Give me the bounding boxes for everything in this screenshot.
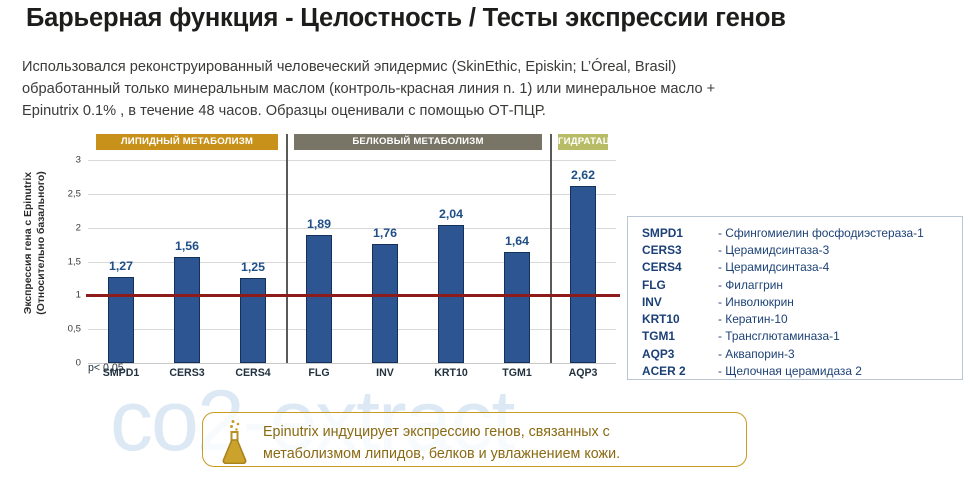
bar-flg [306, 235, 332, 363]
banner-text: Epinutrix индуцирует экспрессию генов, с… [263, 421, 733, 465]
legend-gene-code: ACER 2 [642, 364, 718, 378]
legend-gene-code: CERS3 [642, 243, 718, 257]
gridline [88, 329, 616, 330]
x-axis-label-flg: FLG [283, 367, 355, 379]
bar-value-label: 1,56 [157, 239, 217, 253]
intro-line-1: Использовался реконструированный человеч… [22, 56, 952, 78]
bar-cers4 [240, 278, 266, 363]
x-axis-label-cers3: CERS3 [151, 367, 223, 379]
legend-gene-code: INV [642, 295, 718, 309]
bar-inv [372, 244, 398, 363]
group-divider [550, 134, 552, 363]
intro-paragraph: Использовался реконструированный человеч… [22, 56, 952, 122]
group-header-lipid: ЛИПИДНЫЙ МЕТАБОЛИЗМ [96, 134, 278, 150]
legend-gene-description: - Трансглютаминаза-1 [718, 329, 840, 343]
legend-gene-description: - Сфингомиелин фосфодиэстераза-1 [718, 226, 924, 240]
legend-gene-description: - Кератин-10 [718, 312, 788, 326]
gridline [88, 194, 616, 195]
bar-value-label: 1,64 [487, 234, 547, 248]
x-axis-label-aqp3: AQP3 [547, 367, 619, 379]
legend-row: TGM1- Трансглютаминаза-1 [642, 328, 962, 345]
banner-line-2: метаболизмом липидов, белков и увлажнени… [263, 443, 733, 465]
legend-gene-description: - Церамидсинтаза-3 [718, 243, 829, 257]
legend-row: INV- Инволюкрин [642, 293, 962, 310]
control-reference-line [86, 294, 620, 297]
y-axis-tick-label: 1 [76, 290, 81, 301]
bar-smpd1 [108, 277, 134, 363]
legend-row: FLG- Филаггрин [642, 276, 962, 293]
y-axis-tick-label: 2 [76, 222, 81, 233]
legend-row: ACER 2- Щелочная церамидаза 2 [642, 362, 962, 379]
legend-row: CERS4- Церамидсинтаза-4 [642, 259, 962, 276]
gridline [88, 160, 616, 161]
bar-value-label: 1,89 [289, 217, 349, 231]
intro-line-2: обработанный только минеральным маслом (… [22, 78, 952, 100]
legend-gene-description: - Церамидсинтаза-4 [718, 260, 829, 274]
bar-value-label: 1,76 [355, 226, 415, 240]
group-header-protein: БЕЛКОВЫЙ МЕТАБОЛИЗМ [294, 134, 542, 150]
legend-row: CERS3- Церамидсинтаза-3 [642, 241, 962, 258]
plot-area: 00,511,522,531,27SMPD11,56CERS31,25CERS4… [88, 160, 616, 363]
y-axis-title-line-2: (Относительно базального) [35, 140, 48, 346]
conclusion-banner: Epinutrix индуцирует экспрессию генов, с… [202, 412, 747, 467]
y-axis-title-line-1: Экспрессия гена с Epinutrix [22, 140, 35, 346]
group-divider [286, 134, 288, 363]
gene-expression-bar-chart: Экспрессия гена с Epinutrix (Относительн… [0, 134, 640, 396]
group-header-hydration: ГИДРАТАЦИЯ [558, 134, 608, 150]
legend-gene-description: - Инволюкрин [718, 295, 794, 309]
banner-line-1: Epinutrix индуцирует экспрессию генов, с… [263, 421, 733, 443]
bar-value-label: 2,62 [553, 168, 613, 182]
legend-gene-code: KRT10 [642, 312, 718, 326]
legend-gene-code: FLG [642, 278, 718, 292]
legend-row: SMPD1- Сфингомиелин фосфодиэстераза-1 [642, 224, 962, 241]
y-axis-tick-label: 0,5 [68, 324, 81, 335]
x-axis-label-inv: INV [349, 367, 421, 379]
y-axis-tick-label: 1,5 [68, 256, 81, 267]
legend-gene-description: - Щелочная церамидаза 2 [718, 364, 862, 378]
y-axis-tick-label: 0 [76, 358, 81, 369]
legend-gene-code: SMPD1 [642, 226, 718, 240]
gridline [88, 228, 616, 229]
page-title: Барьерная функция - Целостность / Тесты … [26, 4, 786, 33]
bar-value-label: 2,04 [421, 207, 481, 221]
significance-note: p< 0,05 [88, 362, 124, 374]
y-axis-tick-label: 2,5 [68, 188, 81, 199]
x-axis-label-cers4: CERS4 [217, 367, 289, 379]
gridline [88, 262, 616, 263]
legend-row: KRT10- Кератин-10 [642, 310, 962, 327]
legend-gene-description: - Филаггрин [718, 278, 783, 292]
bar-cers3 [174, 257, 200, 363]
bar-aqp3 [570, 186, 596, 363]
legend-gene-code: TGM1 [642, 329, 718, 343]
gene-abbreviation-legend: SMPD1- Сфингомиелин фосфодиэстераза-1CER… [627, 216, 963, 380]
y-axis-tick-label: 3 [76, 155, 81, 166]
y-axis-title: Экспрессия гена с Epinutrix (Относительн… [22, 140, 48, 346]
legend-gene-code: AQP3 [642, 347, 718, 361]
bar-value-label: 1,27 [91, 259, 151, 273]
bar-tgm1 [504, 252, 530, 363]
x-axis-label-krt10: KRT10 [415, 367, 487, 379]
gridline [88, 363, 616, 364]
legend-gene-description: - Аквапорин-3 [718, 347, 795, 361]
legend-gene-code: CERS4 [642, 260, 718, 274]
intro-line-3: Epinutrix 0.1% , в течение 48 часов. Обр… [22, 100, 952, 122]
x-axis-label-tgm1: TGM1 [481, 367, 553, 379]
flask-icon [215, 418, 255, 464]
bar-value-label: 1,25 [223, 260, 283, 274]
legend-row: AQP3- Аквапорин-3 [642, 345, 962, 362]
